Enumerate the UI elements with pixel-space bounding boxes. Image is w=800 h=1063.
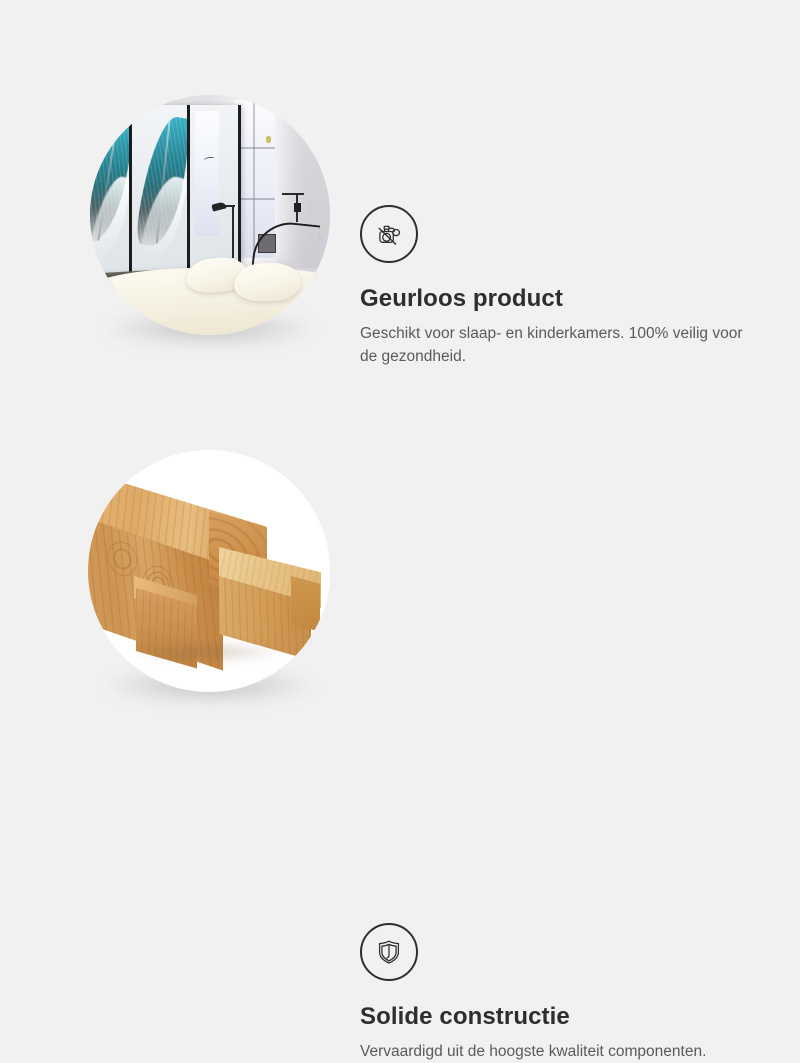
feature-description: Vervaardigd uit de hoogste kwaliteit com… bbox=[360, 1040, 750, 1063]
no-fragrance-icon bbox=[360, 205, 418, 263]
floor-lamp-stem bbox=[232, 205, 234, 258]
bedroom-scene bbox=[90, 95, 330, 335]
wall-lamp-shade bbox=[294, 203, 301, 212]
feature-block-geurloos-product: Geurloos product Geschikt voor slaap- en… bbox=[0, 75, 800, 365]
feature-title: Geurloos product bbox=[360, 285, 760, 314]
right-beam-end-grain bbox=[291, 576, 320, 632]
beam-contact-shadow bbox=[127, 641, 287, 663]
wood-scene bbox=[88, 450, 330, 692]
feather-canvas-triptych bbox=[90, 105, 232, 273]
canvas-panel-left bbox=[90, 105, 132, 273]
feature-page: Geurloos product Geschikt voor slaap- en… bbox=[0, 0, 800, 800]
feature-block-solide-constructie: Solide constructie Vervaardigd uit de ho… bbox=[0, 440, 800, 700]
photo-circle-mask bbox=[88, 450, 330, 692]
canvas-panel-center bbox=[132, 105, 190, 273]
bedroom-feather-canvas-photo bbox=[90, 95, 330, 335]
feature-text-column: Solide constructie Vervaardigd uit de ho… bbox=[360, 923, 760, 1063]
wooden-beams-photo bbox=[88, 450, 330, 692]
wall-accent-dot bbox=[266, 136, 271, 143]
window-mullion bbox=[253, 100, 255, 258]
shield-icon bbox=[360, 923, 418, 981]
wall-lamp-arm bbox=[282, 193, 304, 195]
feature-text-column: Geurloos product Geschikt voor slaap- en… bbox=[360, 205, 760, 369]
feature-title: Solide constructie bbox=[360, 1003, 760, 1032]
panel-window-view bbox=[195, 111, 220, 235]
photo-circle-mask bbox=[90, 95, 330, 335]
feature-description: Geschikt voor slaap- en kinderkamers. 10… bbox=[360, 322, 750, 369]
